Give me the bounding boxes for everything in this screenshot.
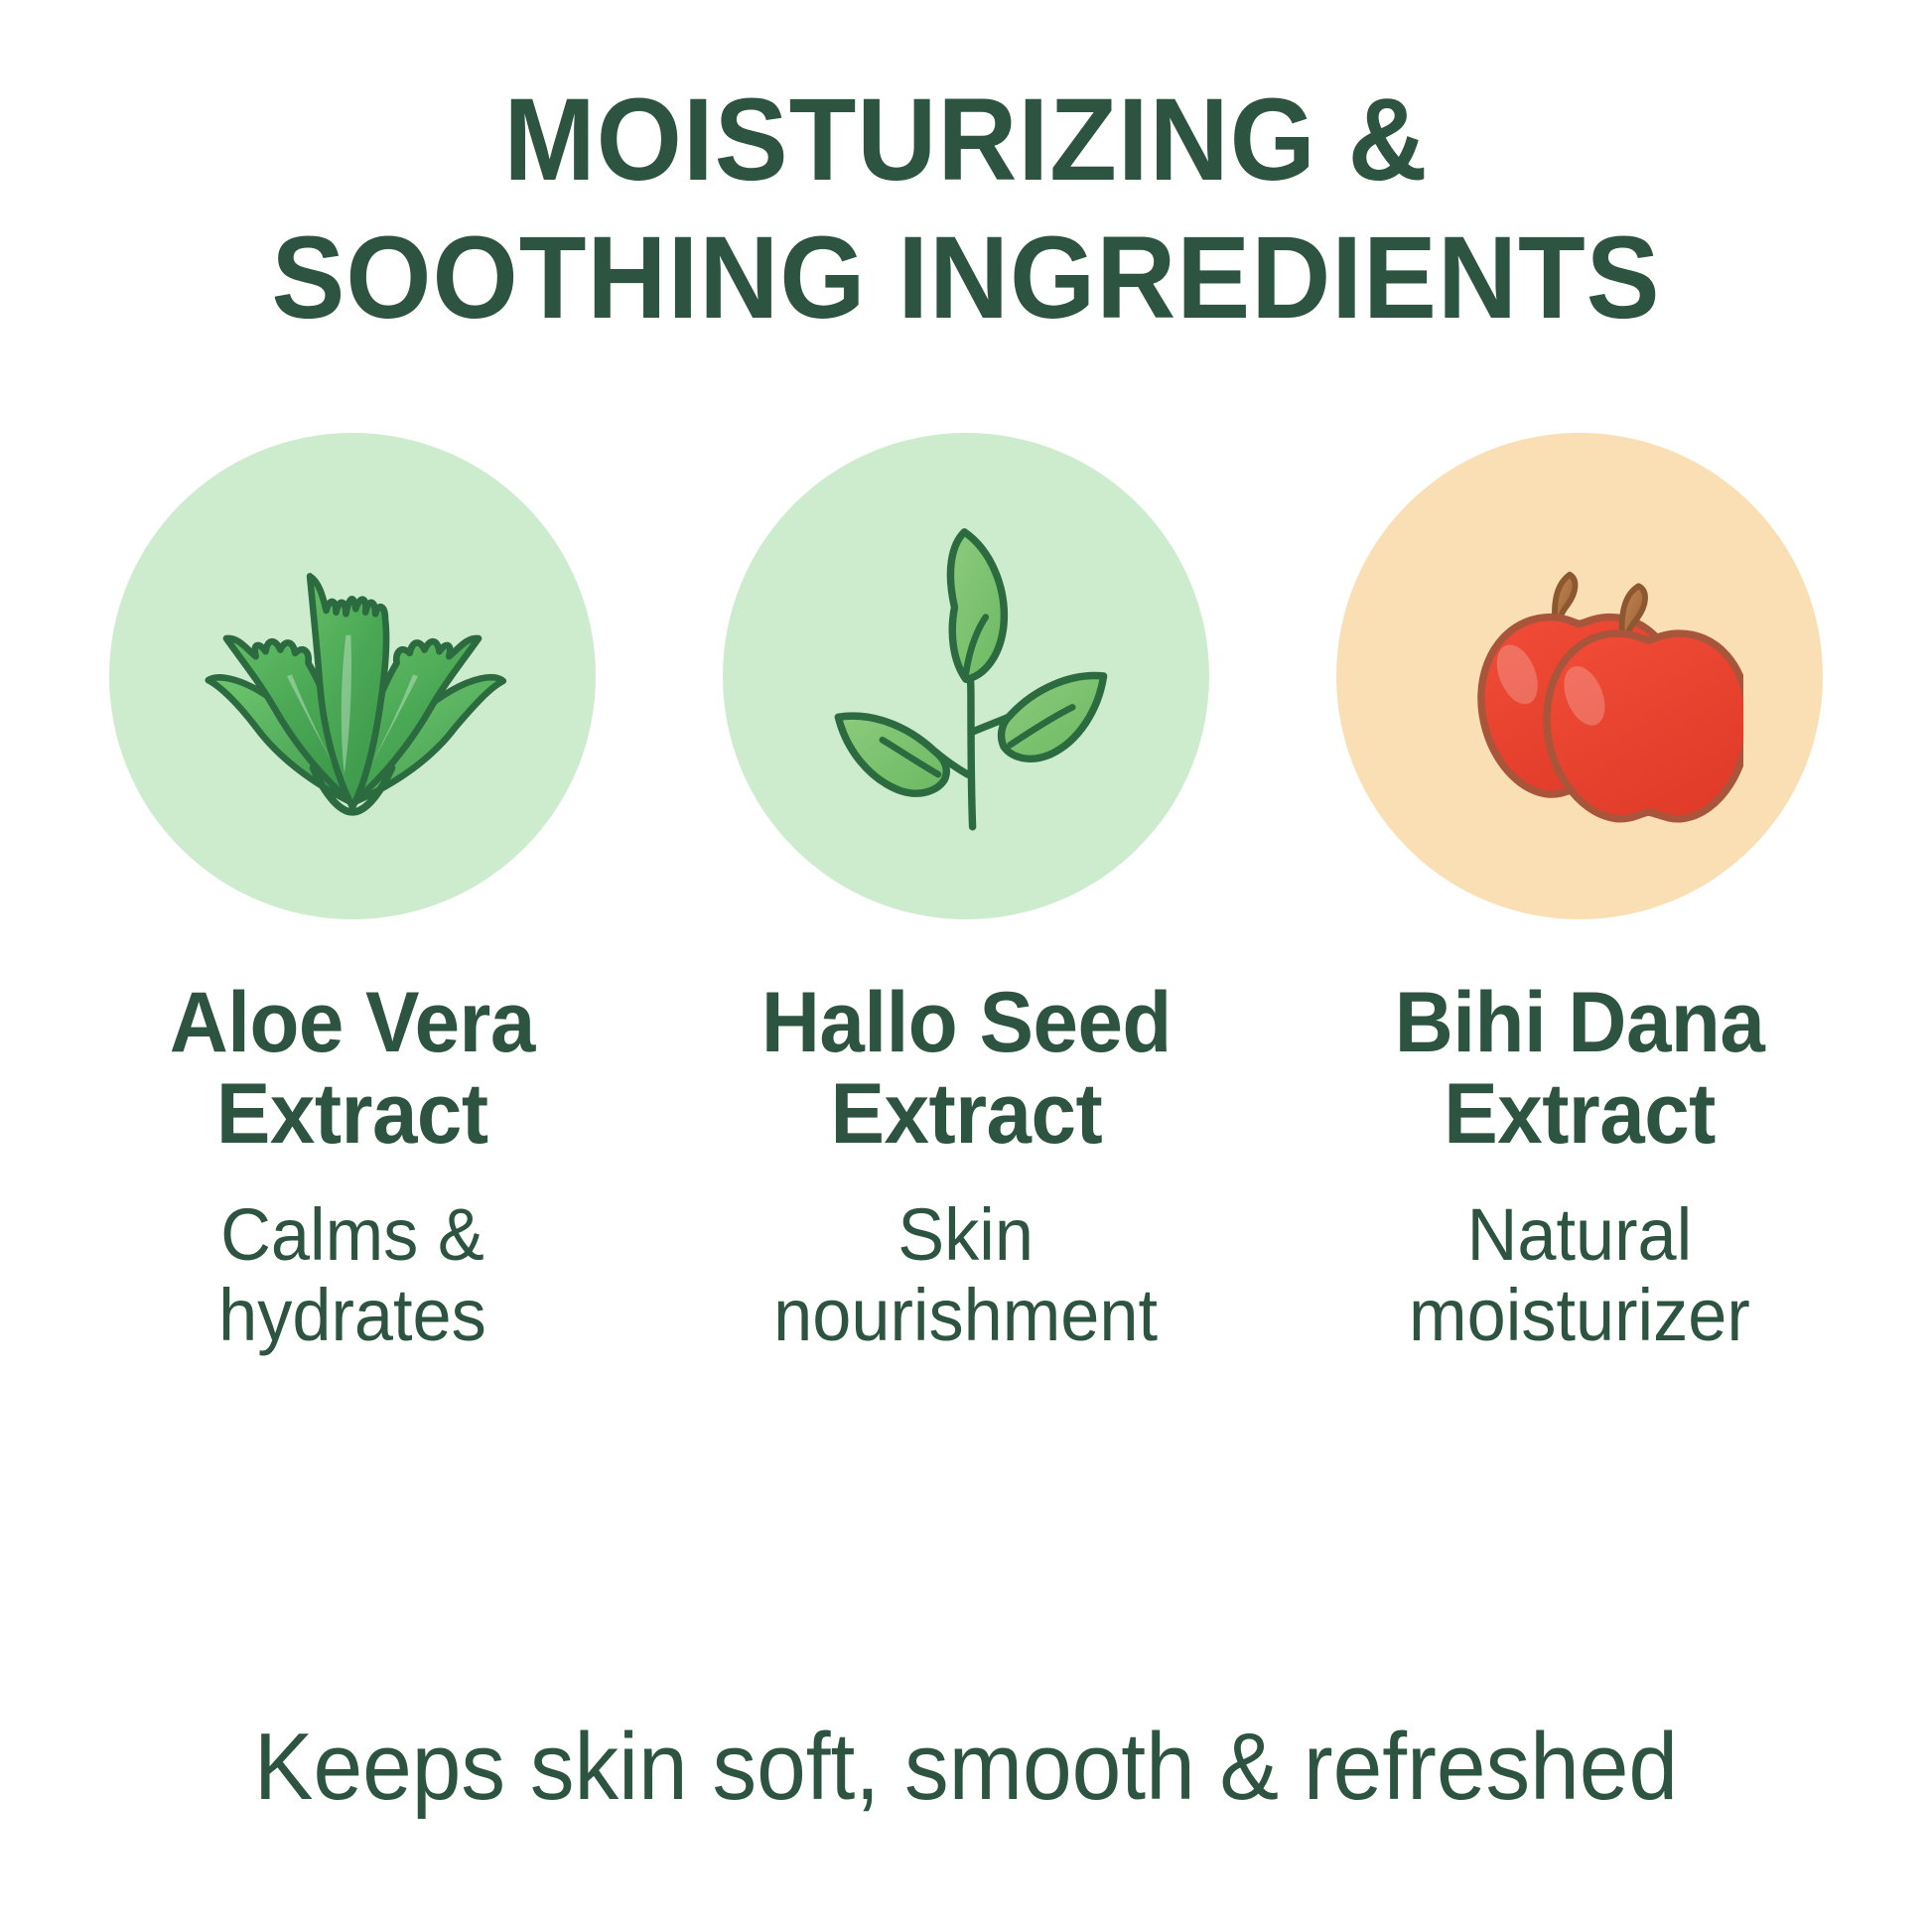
- aloe-vera-icon-circle: [109, 433, 596, 919]
- ingredient-description: Skin nourishment: [774, 1194, 1159, 1356]
- page-title-line-2: SOOTHING INGREDIENTS: [114, 209, 1818, 347]
- page-title: MOISTURIZING & SOOTHING INGREDIENTS: [58, 71, 1873, 347]
- ingredients-infographic: MOISTURIZING & SOOTHING INGREDIENTS: [0, 0, 1932, 1932]
- footer-tagline: Keeps skin soft, smooth & refreshed: [68, 1720, 1864, 1815]
- ingredient-description: Natural moisturizer: [1409, 1194, 1750, 1356]
- ingredient-card-hallo-seed: Hallo Seed Extract Skin nourishment: [718, 433, 1214, 1355]
- apples-icon: [1416, 512, 1743, 840]
- ingredient-title: Bihi Dana Extract: [1395, 977, 1765, 1160]
- ingredient-cards-row: Aloe Vera Extract Calms & hydrates: [0, 433, 1932, 1355]
- ingredient-card-bihi-dana: Bihi Dana Extract Natural moisturizer: [1331, 433, 1828, 1355]
- herb-sprig-icon-circle: [723, 433, 1209, 919]
- herb-sprig-icon: [802, 512, 1130, 840]
- ingredient-title: Aloe Vera Extract: [170, 977, 535, 1160]
- aloe-vera-icon: [189, 512, 516, 840]
- apples-icon-circle: [1336, 433, 1823, 919]
- ingredient-card-aloe-vera: Aloe Vera Extract Calms & hydrates: [104, 433, 601, 1355]
- ingredient-description: Calms & hydrates: [218, 1194, 486, 1356]
- page-title-line-1: MOISTURIZING &: [114, 71, 1818, 209]
- ingredient-title: Hallo Seed Extract: [761, 977, 1172, 1160]
